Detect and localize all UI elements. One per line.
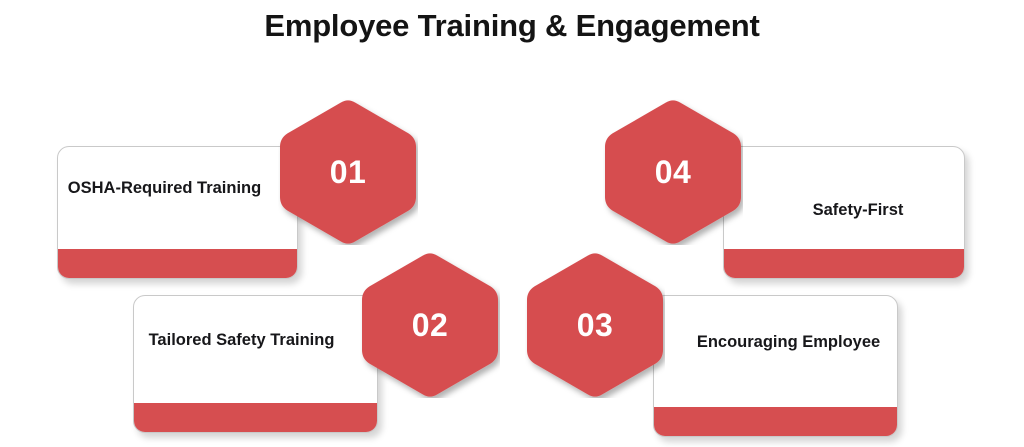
step-card-02[interactable]: Tailored Safety Training <box>133 295 378 433</box>
step-badge-number: 04 <box>603 99 743 245</box>
step-badge-number: 01 <box>278 99 418 245</box>
step-badge-04[interactable]: 04 <box>603 99 743 245</box>
step-badge-number: 02 <box>360 252 500 398</box>
step-card-label: Safety-First <box>724 199 964 222</box>
step-badge-03[interactable]: 03 <box>525 252 665 398</box>
step-card-label: OSHA-Required Training <box>58 177 297 200</box>
step-card-01[interactable]: OSHA-Required Training <box>57 146 298 279</box>
step-badge-02[interactable]: 02 <box>360 252 500 398</box>
step-card-03[interactable]: Encouraging Employee <box>653 295 898 437</box>
card-accent-bar <box>58 249 297 278</box>
step-badge-01[interactable]: 01 <box>278 99 418 245</box>
page-title: Employee Training & Engagement <box>0 8 1024 44</box>
step-badge-number: 03 <box>525 252 665 398</box>
step-card-label: Encouraging Employee <box>654 331 897 354</box>
card-accent-bar <box>724 249 964 278</box>
card-accent-bar <box>134 403 377 432</box>
infographic-canvas: Employee Training & Engagement OSHA-Requ… <box>0 0 1024 447</box>
step-card-label: Tailored Safety Training <box>134 329 377 352</box>
card-accent-bar <box>654 407 897 436</box>
step-card-04[interactable]: Safety-First <box>723 146 965 279</box>
